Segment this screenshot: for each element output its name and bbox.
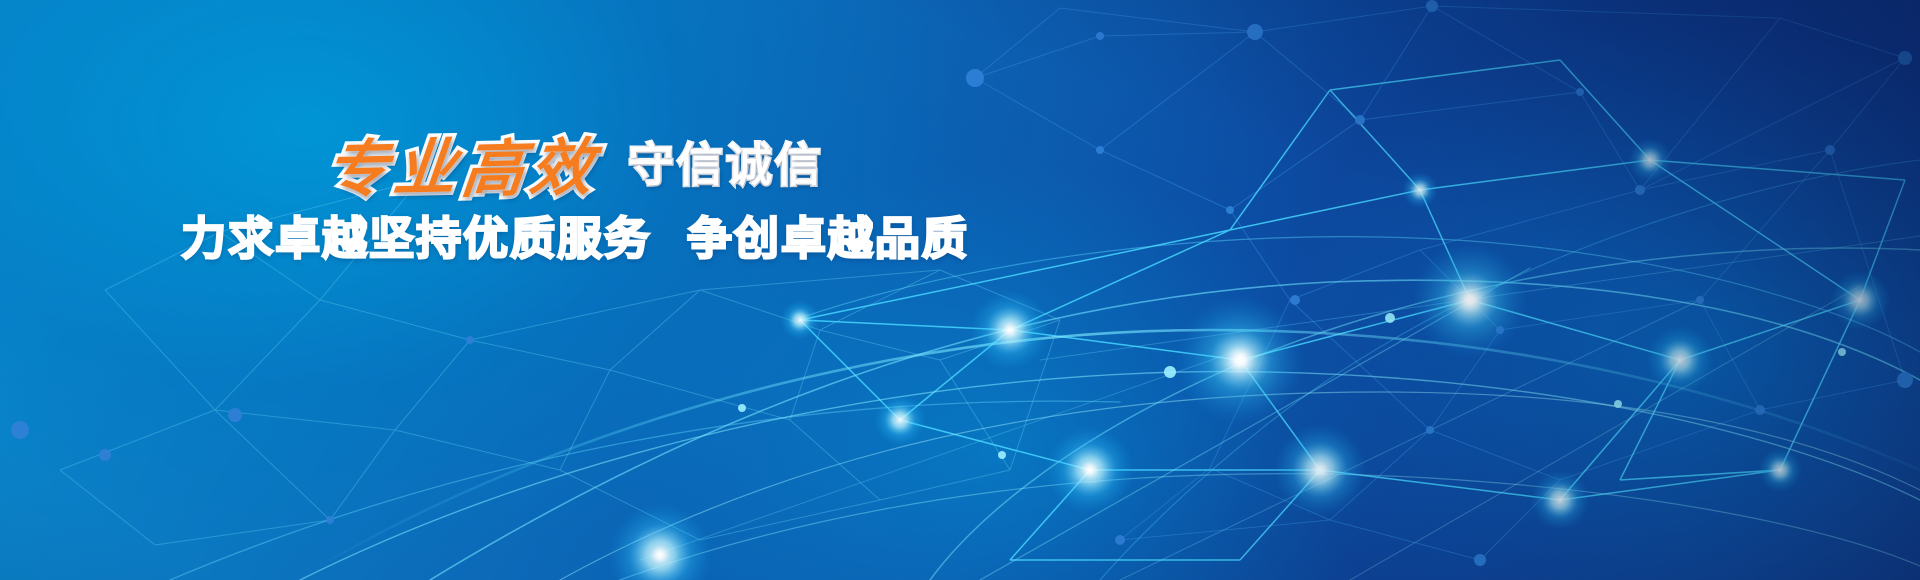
- subheadline-part-1: 力求卓越坚持优质服务: [181, 212, 651, 265]
- subheadline-part-2: 争创卓越品质: [687, 212, 969, 265]
- headline-brush-word-2: 高效: [459, 137, 602, 202]
- node-dots-dim: [11, 0, 1913, 566]
- subheadline-line: 力求卓越坚持优质服务 争创卓越品质: [0, 214, 1150, 264]
- subheadline-separator: [651, 212, 687, 265]
- hero-banner: 专业高效守信诚信 力求卓越坚持优质服务 争创卓越品质: [0, 0, 1920, 580]
- network-node-glows: [0, 0, 1920, 580]
- headline-brush-word-1: 专业: [323, 137, 466, 202]
- headline-white-word: 守信诚信: [628, 142, 824, 188]
- slogan-block: 专业高效守信诚信 力求卓越坚持优质服务 争创卓越品质: [0, 138, 1150, 264]
- headline-line: 专业高效守信诚信: [0, 138, 1150, 200]
